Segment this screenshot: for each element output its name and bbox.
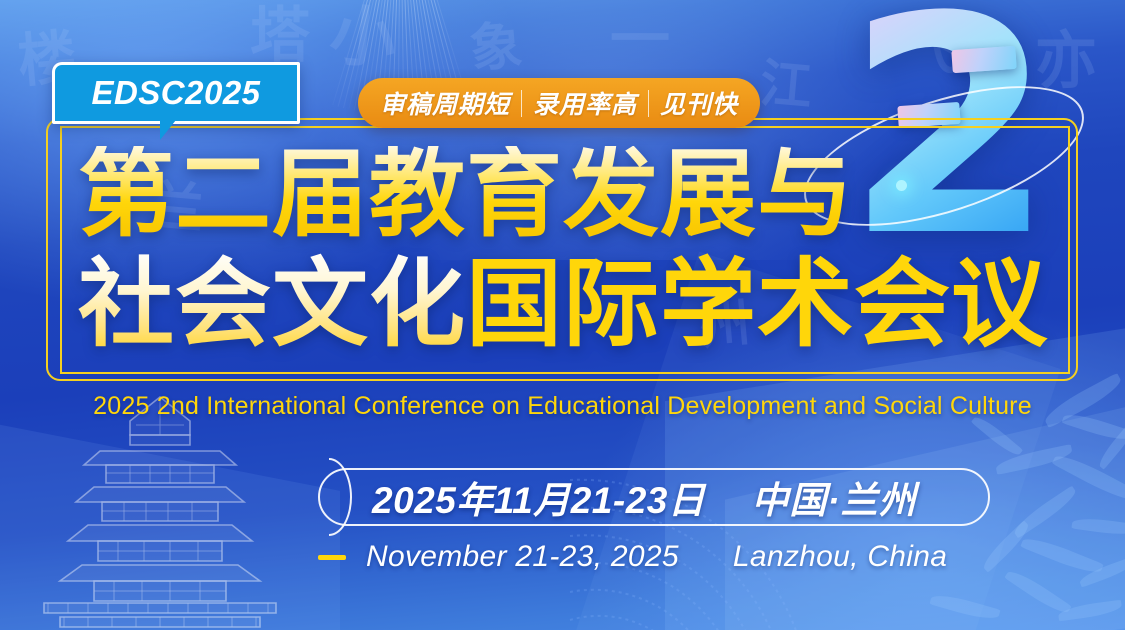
conference-code-badge: EDSC2025 [52,62,300,124]
date-location-row-english: November 21-23, 2025 Lanzhou, China [318,534,1008,580]
bamboo-leaf-icon [1071,515,1125,537]
highlights-pill: 审稿周期短 录用率高 见刊快 [358,78,760,128]
calligraphy-watermark: 小 [327,1,399,73]
pagoda-illustration-icon [40,395,280,630]
highlight-separator-icon [521,90,522,117]
bamboo-leaf-icon [1020,533,1104,578]
calligraphy-watermark: 一 [610,10,670,70]
bamboo-leaf-icon [994,444,1073,475]
bamboo-leaf-icon [1057,600,1122,622]
bamboo-leaf-icon [1078,556,1125,587]
badge-pointer-icon [160,120,176,140]
highlight-item-2: 录用率高 [533,85,637,121]
bamboo-leaf-icon [929,591,1000,624]
conference-subtitle-english: 2025 2nd International Conference on Edu… [0,392,1125,421]
bamboo-leaf-icon [1095,421,1125,469]
dash-icon [318,555,346,560]
calligraphy-watermark: 象 [468,20,524,76]
conference-location-english: Lanzhou, China [733,540,947,574]
bamboo-leaf-icon [1004,566,1072,618]
highlight-item-3: 见刊快 [660,85,738,121]
highlight-item-1: 审稿周期短 [380,85,510,121]
bamboo-leaf-icon [1052,449,1125,506]
conference-title-line-1: 第二届教育发展与 [78,146,854,242]
conference-code-label: EDSC2025 [91,74,260,112]
conference-title-line-2-gradient: 社会文化 [78,248,466,360]
date-location-bar: 2025年11月21-23日 中国·兰州 [318,468,990,526]
conference-title-line-2-solid: 国际学术会议 [466,248,1048,360]
conference-location-chinese: 中国·兰州 [751,470,916,524]
calligraphy-watermark: 塔 [250,6,310,66]
conference-title-line-2: 社会文化国际学术会议 [78,256,1048,352]
highlight-separator-icon [648,90,649,117]
conference-date-chinese: 2025年11月21-23日 [372,470,705,524]
floating-chip-icon [951,46,1016,73]
conference-date-english: November 21-23, 2025 [366,540,679,574]
calligraphy-watermark: 江 [758,58,814,114]
bamboo-leaf-icon [1010,486,1079,539]
conference-banner: 楼塔小象一江飞亦兰州 [0,0,1125,630]
